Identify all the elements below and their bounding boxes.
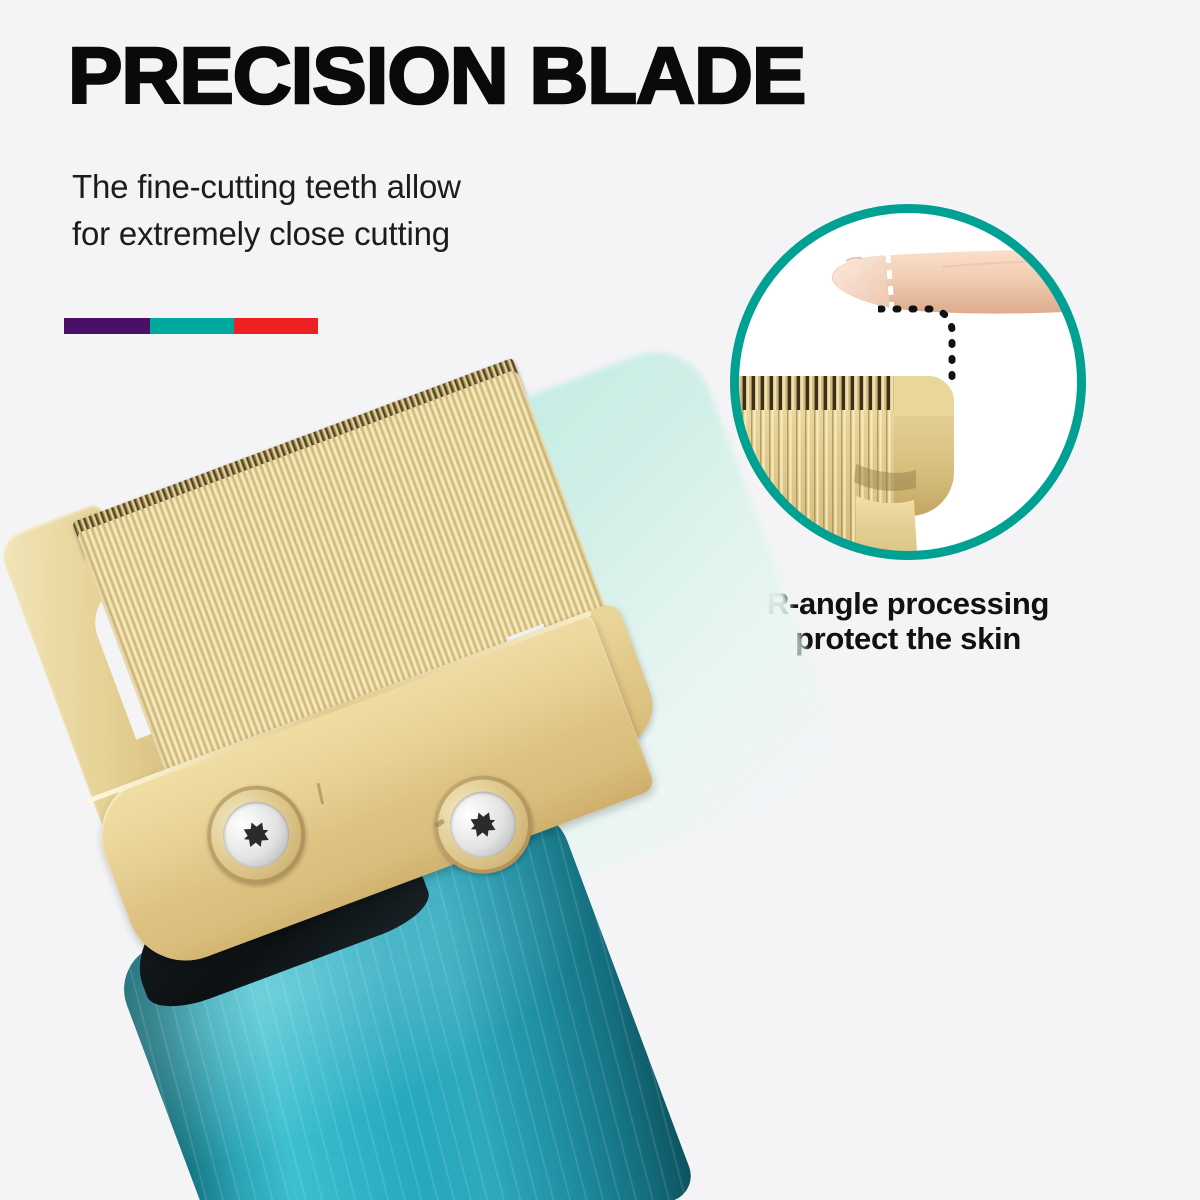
subtitle-line-2: for extremely close cutting — [72, 210, 461, 257]
subtitle-line-1: The fine-cutting teeth allow — [72, 163, 461, 210]
tri-color-divider — [64, 318, 318, 334]
subtitle: The fine-cutting teeth allow for extreme… — [72, 163, 461, 257]
divider-segment-purple — [64, 318, 150, 334]
product-image — [0, 380, 900, 1200]
page-title: PRECISION BLADE — [68, 36, 805, 116]
torx-socket-icon — [239, 818, 272, 851]
feature-panel: PRECISION BLADE The fine-cutting teeth a… — [0, 0, 1200, 1200]
screw-head — [214, 792, 299, 877]
divider-segment-red — [234, 318, 318, 334]
divider-segment-teal — [150, 318, 234, 334]
torx-socket-icon — [466, 808, 499, 841]
r-angle-dotted-marker-icon — [878, 303, 962, 389]
screw-head — [441, 782, 526, 867]
